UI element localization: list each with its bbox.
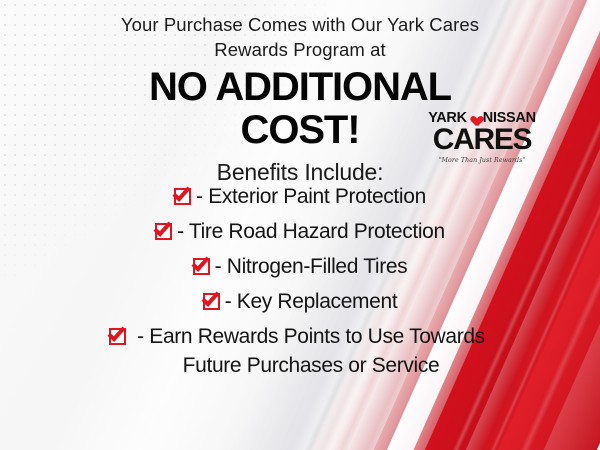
list-item-label: - Earn Rewards Points to Use Towards Fut… xyxy=(131,322,491,380)
checkbox-checked-icon xyxy=(174,186,195,207)
list-item-label: - Tire Road Hazard Protection xyxy=(177,217,445,246)
list-item: - Tire Road Hazard Protection xyxy=(20,217,580,246)
logo-tagline: "More Than Just Rewards" xyxy=(427,156,537,165)
logo-wordmark-cares: CARES xyxy=(424,125,540,155)
list-item: - Nitrogen-Filled Tires xyxy=(20,252,580,281)
promotional-banner: Your Purchase Comes with Our Yark Cares … xyxy=(0,0,600,450)
checkbox-checked-icon xyxy=(193,256,214,277)
heart-icon xyxy=(469,112,481,123)
checkbox-checked-icon xyxy=(203,291,224,312)
yark-nissan-cares-logo: YARK NISSAN CARES "More Than Just Reward… xyxy=(424,110,540,165)
list-item: - Earn Rewards Points to Use Towards Fut… xyxy=(20,322,580,380)
benefits-list: - Exterior Paint Protection - Tire Road … xyxy=(0,182,600,386)
list-item-label: - Exterior Paint Protection xyxy=(196,182,426,211)
list-item-label: - Nitrogen-Filled Tires xyxy=(215,252,408,281)
list-item: - Exterior Paint Protection xyxy=(20,182,580,211)
checkbox-checked-icon xyxy=(155,221,176,242)
list-item: - Key Replacement xyxy=(20,287,580,316)
checkbox-checked-icon xyxy=(109,326,130,347)
kicker-text: Your Purchase Comes with Our Yark Cares … xyxy=(90,12,510,62)
list-item-label: - Key Replacement xyxy=(225,287,398,316)
